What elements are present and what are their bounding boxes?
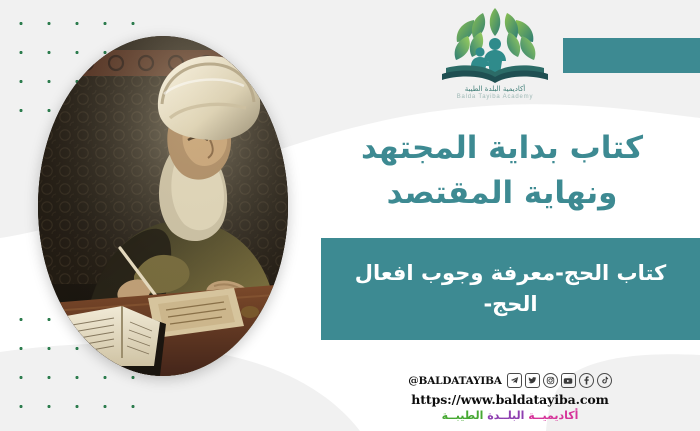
social-handle: @BALDATAYIBA xyxy=(408,375,501,387)
academy-word-2: البلــدة xyxy=(487,409,524,422)
website-url[interactable]: https://www.baldatayiba.com xyxy=(330,392,690,407)
social-row: @BALDATAYIBA xyxy=(330,372,690,389)
academy-word-1: أكاديميــة xyxy=(528,409,578,422)
logo-english-name: Balda Tayiba Academy xyxy=(438,93,552,101)
instagram-icon[interactable] xyxy=(543,373,558,388)
footer: @BALDATAYIBA xyxy=(330,372,690,422)
facebook-icon[interactable] xyxy=(579,373,594,388)
scholar-photo xyxy=(38,36,288,376)
twitter-icon[interactable] xyxy=(525,373,540,388)
tree-book-logo-icon xyxy=(438,6,552,84)
poster-canvas: أكاديمية البلدة الطيبة Balda Tayiba Acad… xyxy=(0,0,700,431)
subtitle-text: كتاب الحج-معرفة وجوب افعال الحج- xyxy=(321,258,700,320)
page-title: كتاب بداية المجتهد ونهاية المقتصد xyxy=(318,126,686,216)
logo-arabic-name: أكاديمية البلدة الطيبة xyxy=(438,85,552,93)
tiktok-icon[interactable] xyxy=(597,373,612,388)
telegram-icon[interactable] xyxy=(507,373,522,388)
subtitle-banner: كتاب الحج-معرفة وجوب افعال الحج- xyxy=(321,238,700,340)
accent-bar-top-right xyxy=(563,38,700,73)
academy-logo: أكاديمية البلدة الطيبة Balda Tayiba Acad… xyxy=(438,6,552,104)
academy-name-footer: أكاديميــة البلــدة الطيبــة xyxy=(330,409,690,422)
youtube-icon[interactable] xyxy=(561,373,576,388)
academy-word-3: الطيبــة xyxy=(442,409,484,422)
